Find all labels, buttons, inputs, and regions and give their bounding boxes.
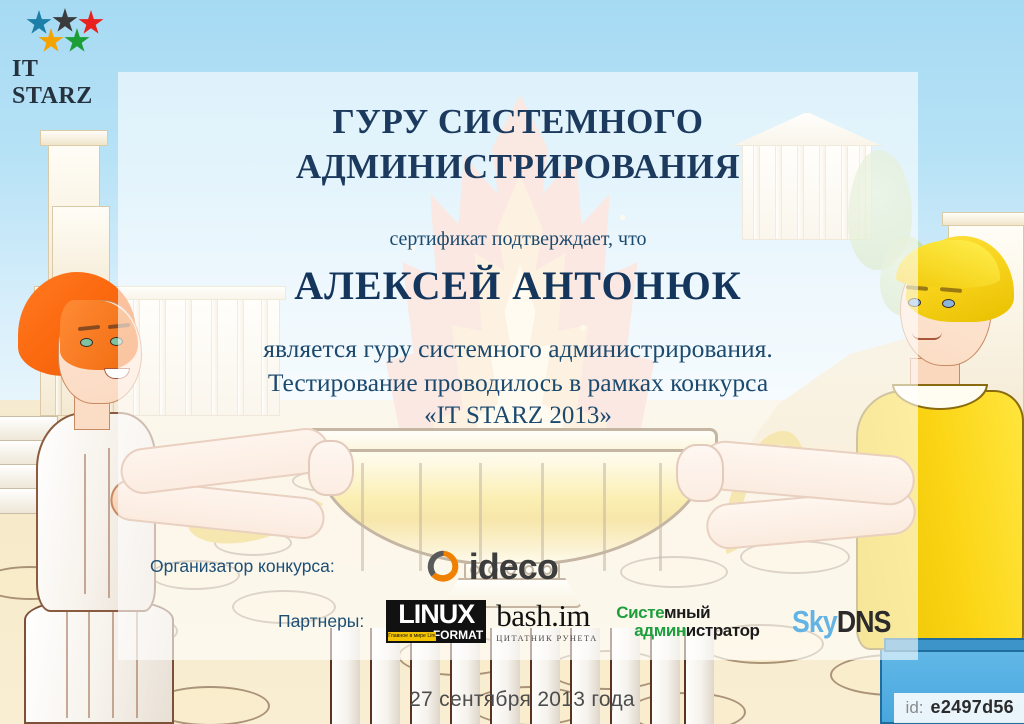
body-line-2: Тестирование проводилось в рамках конкур… bbox=[118, 366, 918, 400]
sysadmin-line2-black: истратор bbox=[686, 621, 760, 640]
star-orange-icon bbox=[38, 28, 64, 54]
issue-date: 27 сентября 2013 года bbox=[332, 688, 712, 712]
linux-format-subtitle: FORMAT bbox=[433, 628, 483, 642]
headline-line-1: ГУРУ СИСТЕМНОГО bbox=[118, 100, 918, 145]
star-blue-icon bbox=[26, 10, 52, 36]
logo-wordmark: IT STARZ bbox=[12, 56, 122, 110]
skydns-logo[interactable]: SkyDNS bbox=[792, 604, 891, 640]
body-line-3: «IT STARZ 2013» bbox=[118, 399, 918, 432]
linux-format-tagline: Главное в мире Linux bbox=[388, 632, 436, 641]
ideco-swirl-icon bbox=[425, 548, 462, 585]
sysadmin-line-2: администратор bbox=[634, 622, 768, 639]
recipient-name: АЛЕКСЕЙ АНТОНЮК bbox=[118, 262, 918, 309]
organizer-row: Организатор конкурса: ideco bbox=[150, 548, 910, 585]
sysadmin-magazine-logo[interactable]: Системный администратор bbox=[616, 604, 768, 639]
sysadmin-line2-green: админ bbox=[634, 621, 686, 640]
it-starz-logo: IT STARZ bbox=[12, 8, 122, 110]
skydns-part-2: DNS bbox=[837, 604, 891, 639]
bash-im-subtitle: ЦИТАТНИК РУНЕТА bbox=[496, 633, 606, 643]
certificate-body: является гуру системного администрирован… bbox=[118, 332, 918, 432]
star-green-icon bbox=[64, 28, 90, 54]
certificate-id-box: id: e2497d56 bbox=[894, 693, 1024, 723]
bash-im-logo[interactable]: bash.im ЦИТАТНИК РУНЕТА bbox=[496, 600, 606, 643]
bash-im-title: bash.im bbox=[496, 600, 606, 631]
partners-row: Партнеры: LINUX FORMAT Главное в мире Li… bbox=[278, 600, 1018, 643]
certificate-id-label: id: bbox=[906, 698, 924, 718]
certificate-id-value: e2497d56 bbox=[931, 697, 1014, 718]
linux-format-logo[interactable]: LINUX FORMAT Главное в мире Linux bbox=[386, 600, 486, 643]
certificate-canvas: IT STARZ ГУРУ СИСТЕМНОГО АДМИНИСТРИРОВАН… bbox=[0, 0, 1024, 724]
ideco-logo[interactable]: ideco bbox=[425, 548, 558, 585]
sysadmin-line1-green: Систе bbox=[616, 603, 664, 622]
certificate-headline: ГУРУ СИСТЕМНОГО АДМИНИСТРИРОВАНИЯ bbox=[118, 100, 918, 190]
ideco-wordmark: ideco bbox=[469, 549, 558, 585]
logo-stars bbox=[12, 8, 122, 56]
certificate-subline: сертификат подтверждает, что bbox=[118, 228, 918, 251]
organizer-label: Организатор конкурса: bbox=[150, 556, 335, 577]
star-dark-icon bbox=[52, 8, 78, 34]
sysadmin-line-1: Системный bbox=[616, 604, 768, 621]
body-line-1: является гуру системного администрирован… bbox=[118, 332, 918, 366]
linux-format-title: LINUX bbox=[389, 600, 483, 628]
sysadmin-line1-black: мный bbox=[664, 603, 710, 622]
partners-label: Партнеры: bbox=[278, 611, 364, 632]
headline-line-2: АДМИНИСТРИРОВАНИЯ bbox=[118, 145, 918, 190]
star-red-icon bbox=[78, 10, 104, 36]
skydns-part-1: Sky bbox=[792, 604, 837, 639]
